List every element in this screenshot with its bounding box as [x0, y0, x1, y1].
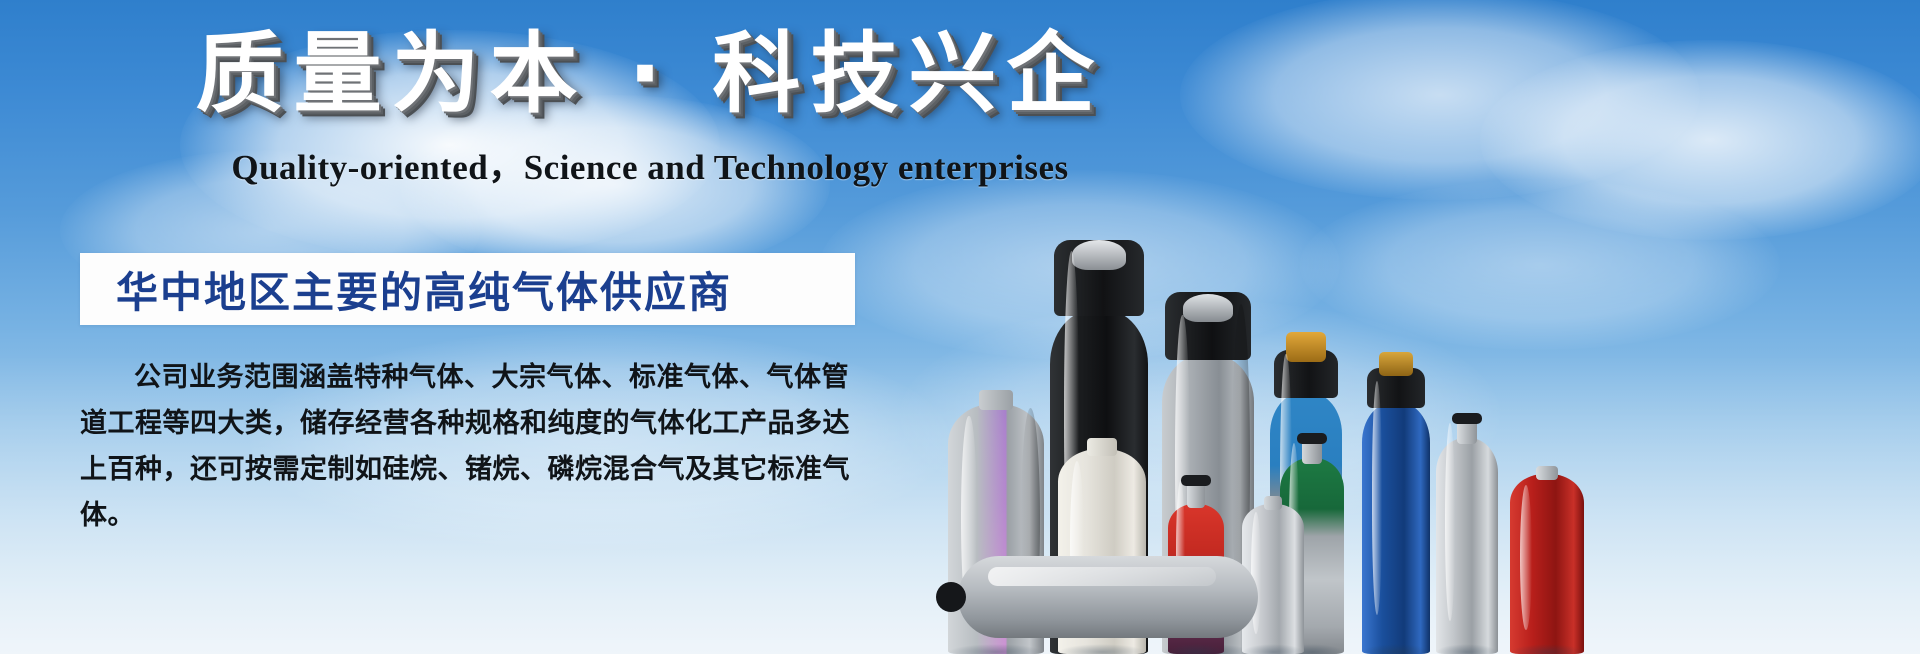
aluminium-cylinder — [1436, 400, 1498, 654]
gas-cylinder-photo-group — [930, 0, 1920, 654]
tagline-highlight-box: 华中地区主要的高纯气体供应商 — [80, 253, 855, 325]
promotional-banner: 质量为本 · 科技兴企 Quality-oriented，Science and… — [0, 0, 1920, 654]
banner-description: 公司业务范围涵盖特种气体、大宗气体、标准气体、气体管道工程等四大类，储存经营各种… — [80, 355, 870, 539]
description-paragraph: 公司业务范围涵盖特种气体、大宗气体、标准气体、气体管道工程等四大类，储存经营各种… — [80, 355, 870, 539]
horizontal-grey-tank — [958, 556, 1258, 638]
tagline-text: 华中地区主要的高纯气体供应商 — [80, 259, 732, 320]
tank-valve-icon — [936, 582, 966, 612]
red-cylinder — [1510, 468, 1584, 654]
dark-blue-cylinder — [1362, 354, 1430, 654]
